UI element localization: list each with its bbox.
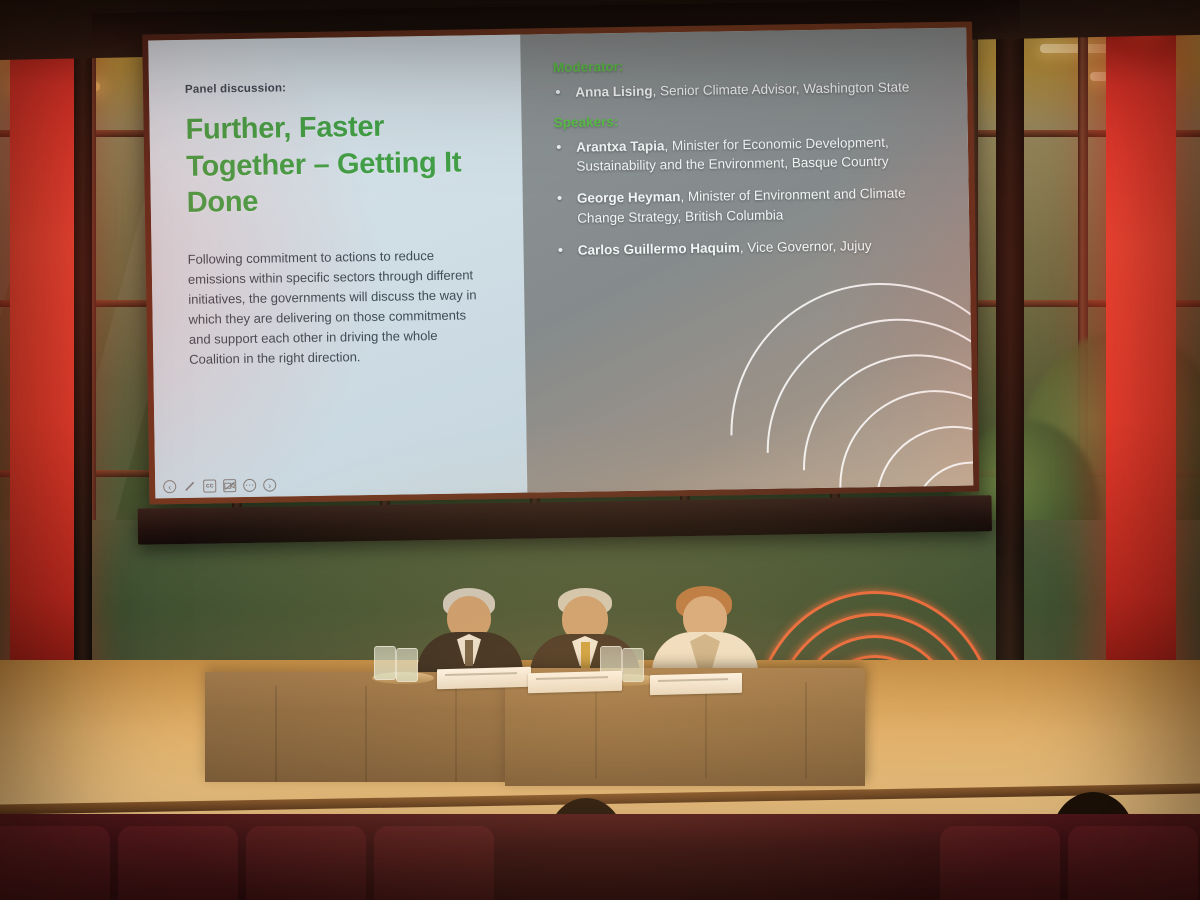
seat — [118, 826, 238, 900]
speakers-list: Arantxa Tapia, Minister for Economic Dev… — [550, 132, 944, 260]
column-red-left — [10, 0, 74, 700]
moderator-list: Anna Lising, Senior Climate Advisor, Was… — [549, 77, 941, 102]
name-card — [650, 673, 742, 695]
list-item: George Heyman, Minister of Environment a… — [551, 183, 943, 227]
person-role: , Vice Governor, Jujuy — [740, 238, 872, 255]
water-glass — [374, 646, 396, 680]
table-pleat — [275, 686, 277, 782]
list-item: Arantxa Tapia, Minister for Economic Dev… — [550, 132, 942, 176]
seat — [0, 826, 110, 900]
more-options-icon[interactable]: ⋯ — [243, 479, 256, 492]
water-glass — [622, 648, 644, 682]
table-pleat — [705, 682, 707, 778]
tie — [465, 640, 473, 666]
previous-slide-icon[interactable]: ‹ — [163, 480, 176, 493]
list-item: Anna Lising, Senior Climate Advisor, Was… — [549, 77, 941, 102]
screen-surface: Panel discussion: Further, Faster Togeth… — [148, 28, 973, 499]
table-pleat — [805, 682, 807, 778]
slide-title: Further, Faster Together – Getting It Do… — [185, 107, 489, 221]
projection-screen-assembly: Panel discussion: Further, Faster Togeth… — [92, 0, 1028, 558]
arc-decoration — [738, 291, 973, 493]
speakers-label: Speakers: — [554, 109, 942, 130]
slide-left-panel: Panel discussion: Further, Faster Togeth… — [148, 35, 527, 499]
tie — [581, 642, 590, 668]
list-item: Carlos Guillermo Haquim, Vice Governor, … — [552, 235, 944, 260]
name-card — [528, 671, 622, 693]
person-name: George Heyman — [577, 190, 681, 207]
table-pleat — [455, 686, 457, 782]
table-pleat — [365, 686, 367, 782]
name-card — [437, 667, 531, 689]
table-pleat — [595, 682, 597, 778]
seat — [374, 826, 494, 900]
presentation-toolbar[interactable]: ‹ cc ⋯ › — [163, 478, 276, 493]
column-red-right — [1106, 0, 1176, 700]
slide-right-panel: Moderator: Anna Lising, Senior Climate A… — [520, 28, 973, 493]
person-name: Carlos Guillermo Haquim — [578, 240, 740, 258]
seat — [1068, 826, 1198, 900]
captions-icon[interactable]: cc — [203, 479, 216, 492]
person-name: Arantxa Tapia — [576, 139, 665, 155]
person-role: , Senior Climate Advisor, Washington Sta… — [652, 79, 909, 98]
moderator-label: Moderator: — [553, 54, 941, 75]
slide-eyebrow: Panel discussion: — [185, 79, 487, 96]
camera-off-icon[interactable] — [223, 479, 236, 492]
presentation-slide: Panel discussion: Further, Faster Togeth… — [148, 28, 973, 499]
pen-icon[interactable] — [183, 480, 196, 493]
next-slide-icon[interactable]: › — [263, 478, 276, 491]
column-dark-left — [74, 0, 92, 700]
water-glass — [396, 648, 418, 682]
seat — [246, 826, 366, 900]
seat — [940, 826, 1060, 900]
screen-weight-bar — [138, 495, 992, 544]
slide-body-text: Following commitment to actions to reduc… — [187, 245, 489, 371]
person-name: Anna Lising — [575, 84, 652, 100]
screen-frame: Panel discussion: Further, Faster Togeth… — [142, 21, 979, 504]
